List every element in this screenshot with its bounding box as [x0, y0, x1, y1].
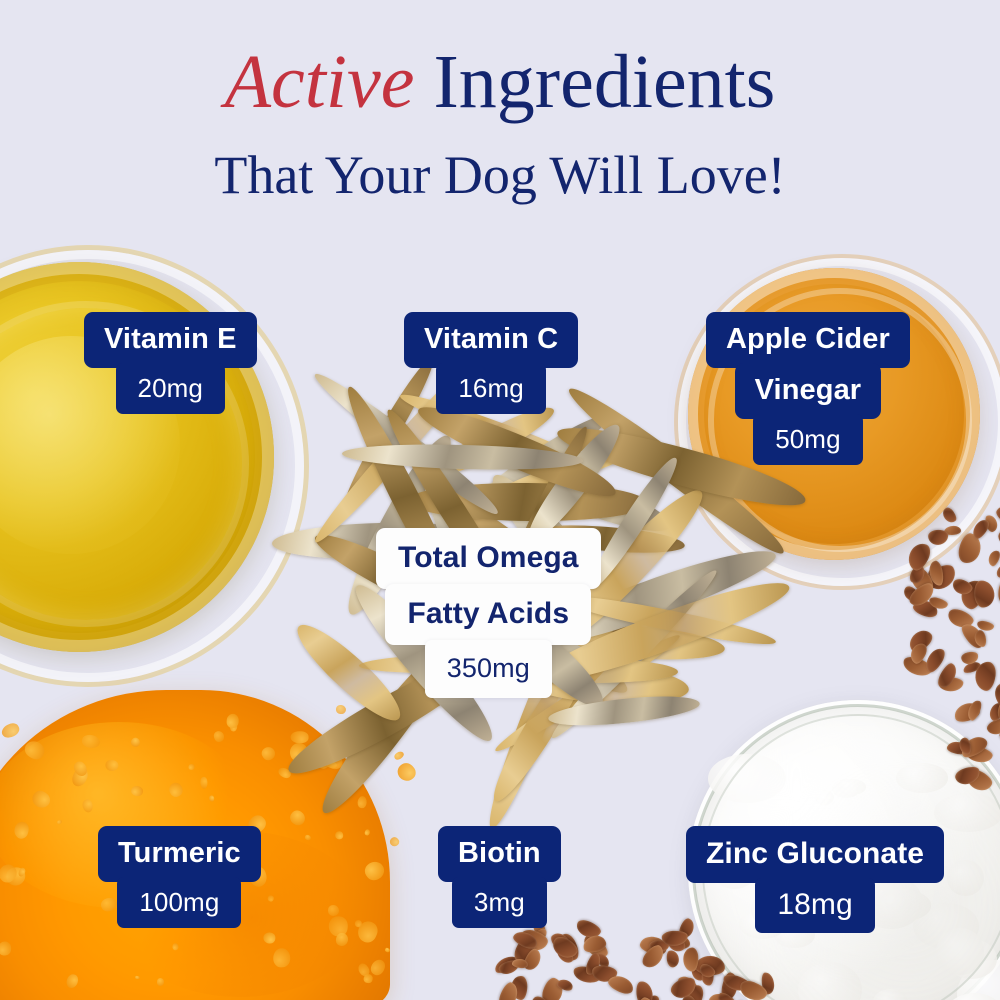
badge-dose: 3mg: [452, 877, 547, 928]
badge-vitamin-c[interactable]: Vitamin C 16mg: [404, 312, 578, 414]
badge-vitamin-e[interactable]: Vitamin E 20mg: [84, 312, 257, 414]
badge-name: Zinc Gluconate: [686, 826, 944, 883]
badge-zinc-gluconate[interactable]: Zinc Gluconate 18mg: [686, 826, 944, 933]
badge-name: Turmeric: [98, 826, 261, 882]
badge-dose: 100mg: [117, 877, 241, 928]
title-accent-word: Active: [225, 40, 415, 124]
badge-biotin[interactable]: Biotin 3mg: [438, 826, 561, 928]
badge-name-line1: Total Omega: [376, 528, 601, 589]
badge-dose: 16mg: [436, 363, 545, 414]
badge-name: Vitamin E: [84, 312, 257, 368]
badge-turmeric[interactable]: Turmeric 100mg: [98, 826, 261, 928]
badge-dose: 20mg: [116, 363, 225, 414]
badge-name: Biotin: [438, 826, 561, 882]
badge-name-line2: Fatty Acids: [385, 584, 591, 645]
badge-name-line1: Apple Cider: [706, 312, 910, 368]
title-rest-word: Ingredients: [414, 40, 775, 124]
badge-dose: 350mg: [425, 640, 552, 698]
page-subtitle: That Your Dog Will Love!: [0, 144, 1000, 206]
heading-block: Active Ingredients That Your Dog Will Lo…: [0, 44, 1000, 206]
badge-apple-cider-vinegar[interactable]: Apple Cider Vinegar 50mg: [706, 312, 910, 465]
badge-dose: 18mg: [755, 878, 874, 933]
badge-total-omega-fatty-acids[interactable]: Total Omega Fatty Acids 350mg: [376, 528, 601, 698]
infographic-canvas: Active Ingredients That Your Dog Will Lo…: [0, 0, 1000, 1000]
badge-dose: 50mg: [753, 414, 862, 465]
page-title: Active Ingredients: [0, 44, 1000, 122]
badge-name-line2: Vinegar: [735, 363, 882, 419]
badge-name: Vitamin C: [404, 312, 578, 368]
